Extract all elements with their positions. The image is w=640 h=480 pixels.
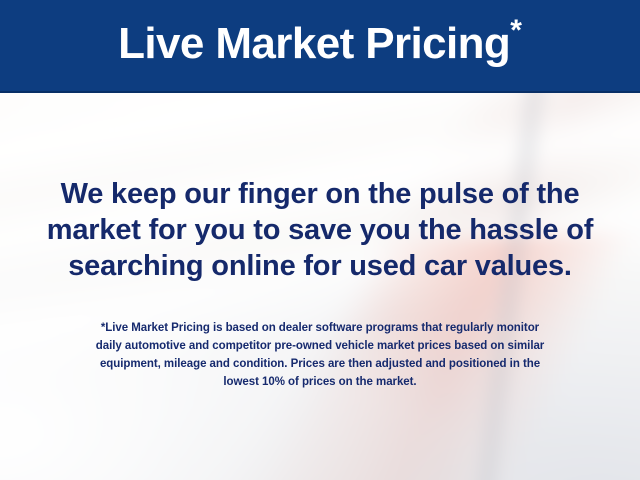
headline-line-2: market for you to save you the hassle of (35, 212, 605, 248)
content-overlay: We keep our finger on the pulse of the m… (0, 93, 640, 480)
disclaimer: *Live Market Pricing is based on dealer … (30, 319, 610, 391)
disclaimer-line-1: *Live Market Pricing is based on dealer … (30, 319, 610, 337)
body-section: We keep our finger on the pulse of the m… (0, 93, 640, 480)
headline-line-3: searching online for used car values. (35, 248, 605, 284)
header-banner: Live Market Pricing* (0, 0, 640, 93)
live-market-pricing-promo: Live Market Pricing* We keep our finger … (0, 0, 640, 480)
disclaimer-line-3: equipment, mileage and condition. Prices… (30, 355, 610, 373)
page-title-text: Live Market Pricing (118, 19, 510, 68)
disclaimer-line-2: daily automotive and competitor pre-owne… (30, 337, 610, 355)
page-title: Live Market Pricing* (118, 22, 522, 69)
headline: We keep our finger on the pulse of the m… (35, 176, 605, 284)
headline-line-1: We keep our finger on the pulse of the (35, 176, 605, 212)
title-asterisk-marker: * (510, 14, 522, 47)
disclaimer-line-4: lowest 10% of prices on the market. (30, 373, 610, 391)
